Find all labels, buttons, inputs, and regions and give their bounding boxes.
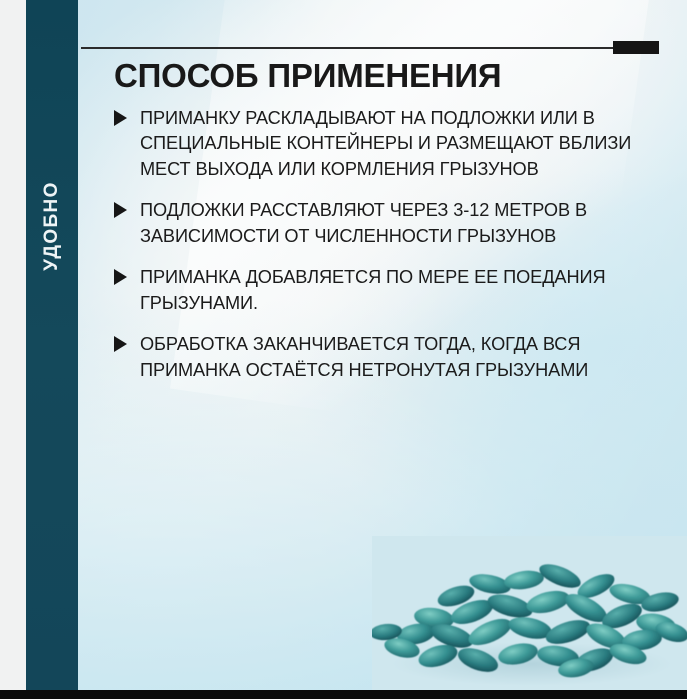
- header-rule: [81, 47, 659, 49]
- list-item: ОБРАБОТКА ЗАКАНЧИВАЕТСЯ ТОГДА, КОГДА ВСЯ…: [114, 332, 662, 383]
- list-item-text: ПОДЛОЖКИ РАССТАВЛЯЮТ ЧЕРЕЗ 3-12 МЕТРОВ В…: [140, 200, 587, 245]
- rodenticide-pellets-photo: [372, 536, 687, 691]
- content-column: СПОСОБ ПРИМЕНЕНИЯ ПРИМАНКУ РАСКЛАДЫВАЮТ …: [114, 58, 662, 383]
- triangle-right-icon: [114, 202, 127, 218]
- bottom-black-bar: [0, 690, 687, 699]
- page-title: СПОСОБ ПРИМЕНЕНИЯ: [114, 58, 662, 94]
- triangle-right-icon: [114, 269, 127, 285]
- instruction-list: ПРИМАНКУ РАСКЛАДЫВАЮТ НА ПОДЛОЖКИ ИЛИ В …: [114, 106, 662, 383]
- left-margin-strip: [0, 0, 26, 699]
- vertical-sidebar: УДОБНО: [26, 0, 78, 691]
- list-item: ПОДЛОЖКИ РАССТАВЛЯЮТ ЧЕРЕЗ 3-12 МЕТРОВ В…: [114, 198, 662, 249]
- sidebar-vertical-label: УДОБНО: [41, 181, 63, 271]
- header-rule-end-cap: [613, 41, 659, 54]
- triangle-right-icon: [114, 110, 127, 126]
- list-item: ПРИМАНКУ РАСКЛАДЫВАЮТ НА ПОДЛОЖКИ ИЛИ В …: [114, 106, 662, 182]
- list-item-text: ОБРАБОТКА ЗАКАНЧИВАЕТСЯ ТОГДА, КОГДА ВСЯ…: [140, 334, 588, 379]
- poster-canvas: УДОБНО СПОСОБ ПРИМЕНЕНИЯ ПРИМАНКУ РАСКЛА…: [0, 0, 687, 699]
- list-item: ПРИМАНКА ДОБАВЛЯЕТСЯ ПО МЕРЕ ЕЕ ПОЕДАНИЯ…: [114, 265, 662, 316]
- list-item-text: ПРИМАНКА ДОБАВЛЯЕТСЯ ПО МЕРЕ ЕЕ ПОЕДАНИЯ…: [140, 267, 605, 312]
- triangle-right-icon: [114, 336, 127, 352]
- list-item-text: ПРИМАНКУ РАСКЛАДЫВАЮТ НА ПОДЛОЖКИ ИЛИ В …: [140, 108, 631, 179]
